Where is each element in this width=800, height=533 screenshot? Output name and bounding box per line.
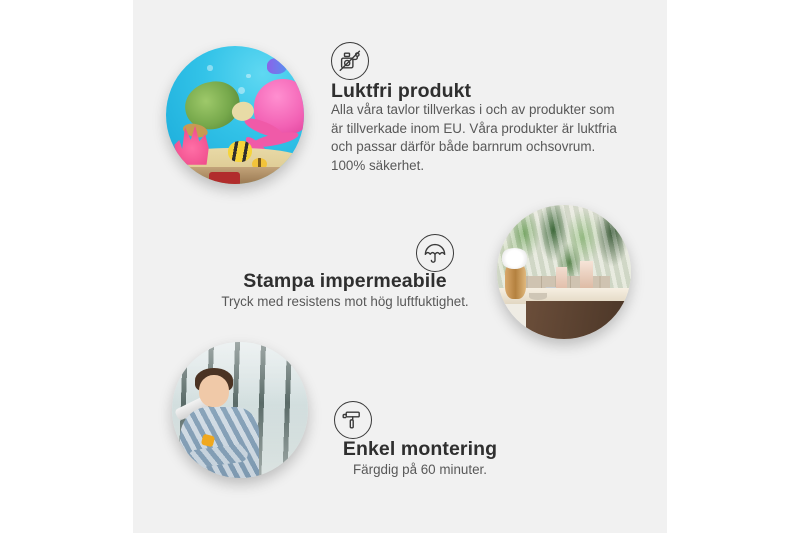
bathroom-scene-art: [497, 205, 631, 339]
bubble: [207, 65, 213, 71]
promo-infographic: Luktfri produkt Alla våra tavlor tillver…: [0, 0, 800, 533]
underwater-scene-art: [166, 46, 304, 184]
underwater-cartoon-mural-circle: [166, 46, 304, 184]
sea-turtle: [181, 77, 245, 134]
gold-vase: [505, 264, 526, 299]
feature-description: Färgdig på 60 minuter.: [290, 462, 550, 477]
bathroom-tropical-wallpaper-circle: [497, 205, 631, 339]
bubble: [238, 87, 245, 94]
soap-dish: [529, 293, 546, 300]
no-fragrance-icon: [331, 42, 369, 80]
feature-title: Stampa impermeabile: [200, 270, 490, 293]
bubble: [246, 74, 251, 79]
furniture-foreground: [177, 167, 293, 184]
feature-title: Enkel montering: [290, 438, 550, 461]
woman-with-paint-roller-forest-circle: [172, 342, 308, 478]
striped-yellow-fish: [228, 141, 251, 162]
woman-face: [199, 375, 229, 408]
wooden-cabinet: [526, 301, 625, 339]
feature-description: Tryck med resistens mot hög luftfuktighe…: [200, 294, 490, 309]
masking-tape: [201, 433, 216, 447]
umbrella-icon: [416, 234, 454, 272]
feature-description: Alla våra tavlor tillverkas i och av pro…: [331, 101, 619, 175]
cabinet-handle: [602, 334, 605, 339]
feature-title: Luktfri produkt: [331, 80, 471, 103]
purple-fish: [267, 58, 288, 73]
forest-scene-art: [172, 342, 308, 478]
woman-torso: [180, 407, 259, 478]
paint-roller-icon: [334, 401, 372, 439]
